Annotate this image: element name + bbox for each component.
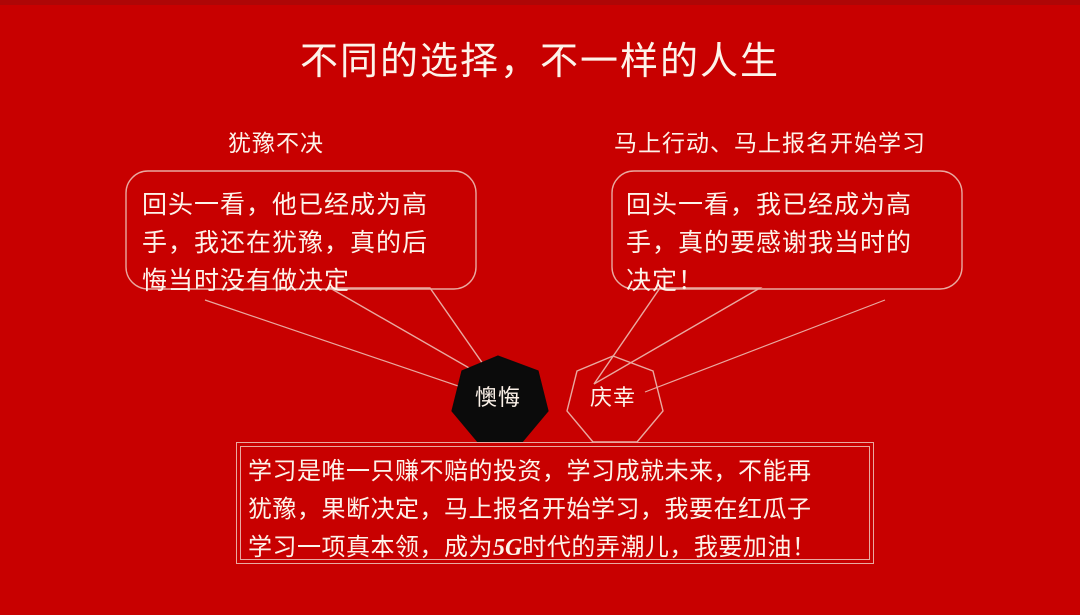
conclusion-line-3-prefix: 学习一项真本领，成为	[248, 535, 493, 561]
slide-canvas: 不同的选择，不一样的人生 犹豫不决 马上行动、马上报名开始学习 回头一看，他已经…	[0, 0, 1080, 615]
page-title: 不同的选择，不一样的人生	[0, 40, 1080, 86]
speech-bubble-right-text: 回头一看，我已经成为高 手，真的要感谢我当时的 决定！	[626, 187, 956, 301]
speech-bubble-left-text: 回头一看，他已经成为高 手，我还在犹豫，真的后 悔当时没有做决定	[142, 187, 472, 301]
heptagon-label-lucky: 庆幸	[570, 380, 656, 412]
speech-tail-left	[330, 288, 497, 384]
connector-line-right-outer	[645, 300, 885, 392]
heptagon-label-regret: 懊悔	[455, 380, 541, 412]
column-heading-hesitate: 犹豫不决	[228, 124, 324, 158]
conclusion-line-2: 犹豫，果断决定，马上报名开始学习，我要在红瓜子	[248, 497, 812, 523]
conclusion-line-3-suffix: 时代的弄潮儿，我要加油！	[522, 535, 816, 561]
top-edge-strip	[0, 0, 1080, 5]
column-heading-act-now: 马上行动、马上报名开始学习	[614, 124, 926, 158]
connector-line-left-outer	[205, 300, 470, 390]
conclusion-text: 学习是唯一只赚不赔的投资，学习成就未来，不能再犹豫，果断决定，马上报名开始学习，…	[248, 453, 866, 567]
conclusion-5g-token: 5G	[493, 535, 522, 561]
speech-tail-right	[594, 288, 760, 384]
conclusion-line-1: 学习是唯一只赚不赔的投资，学习成就未来，不能再	[248, 459, 812, 485]
